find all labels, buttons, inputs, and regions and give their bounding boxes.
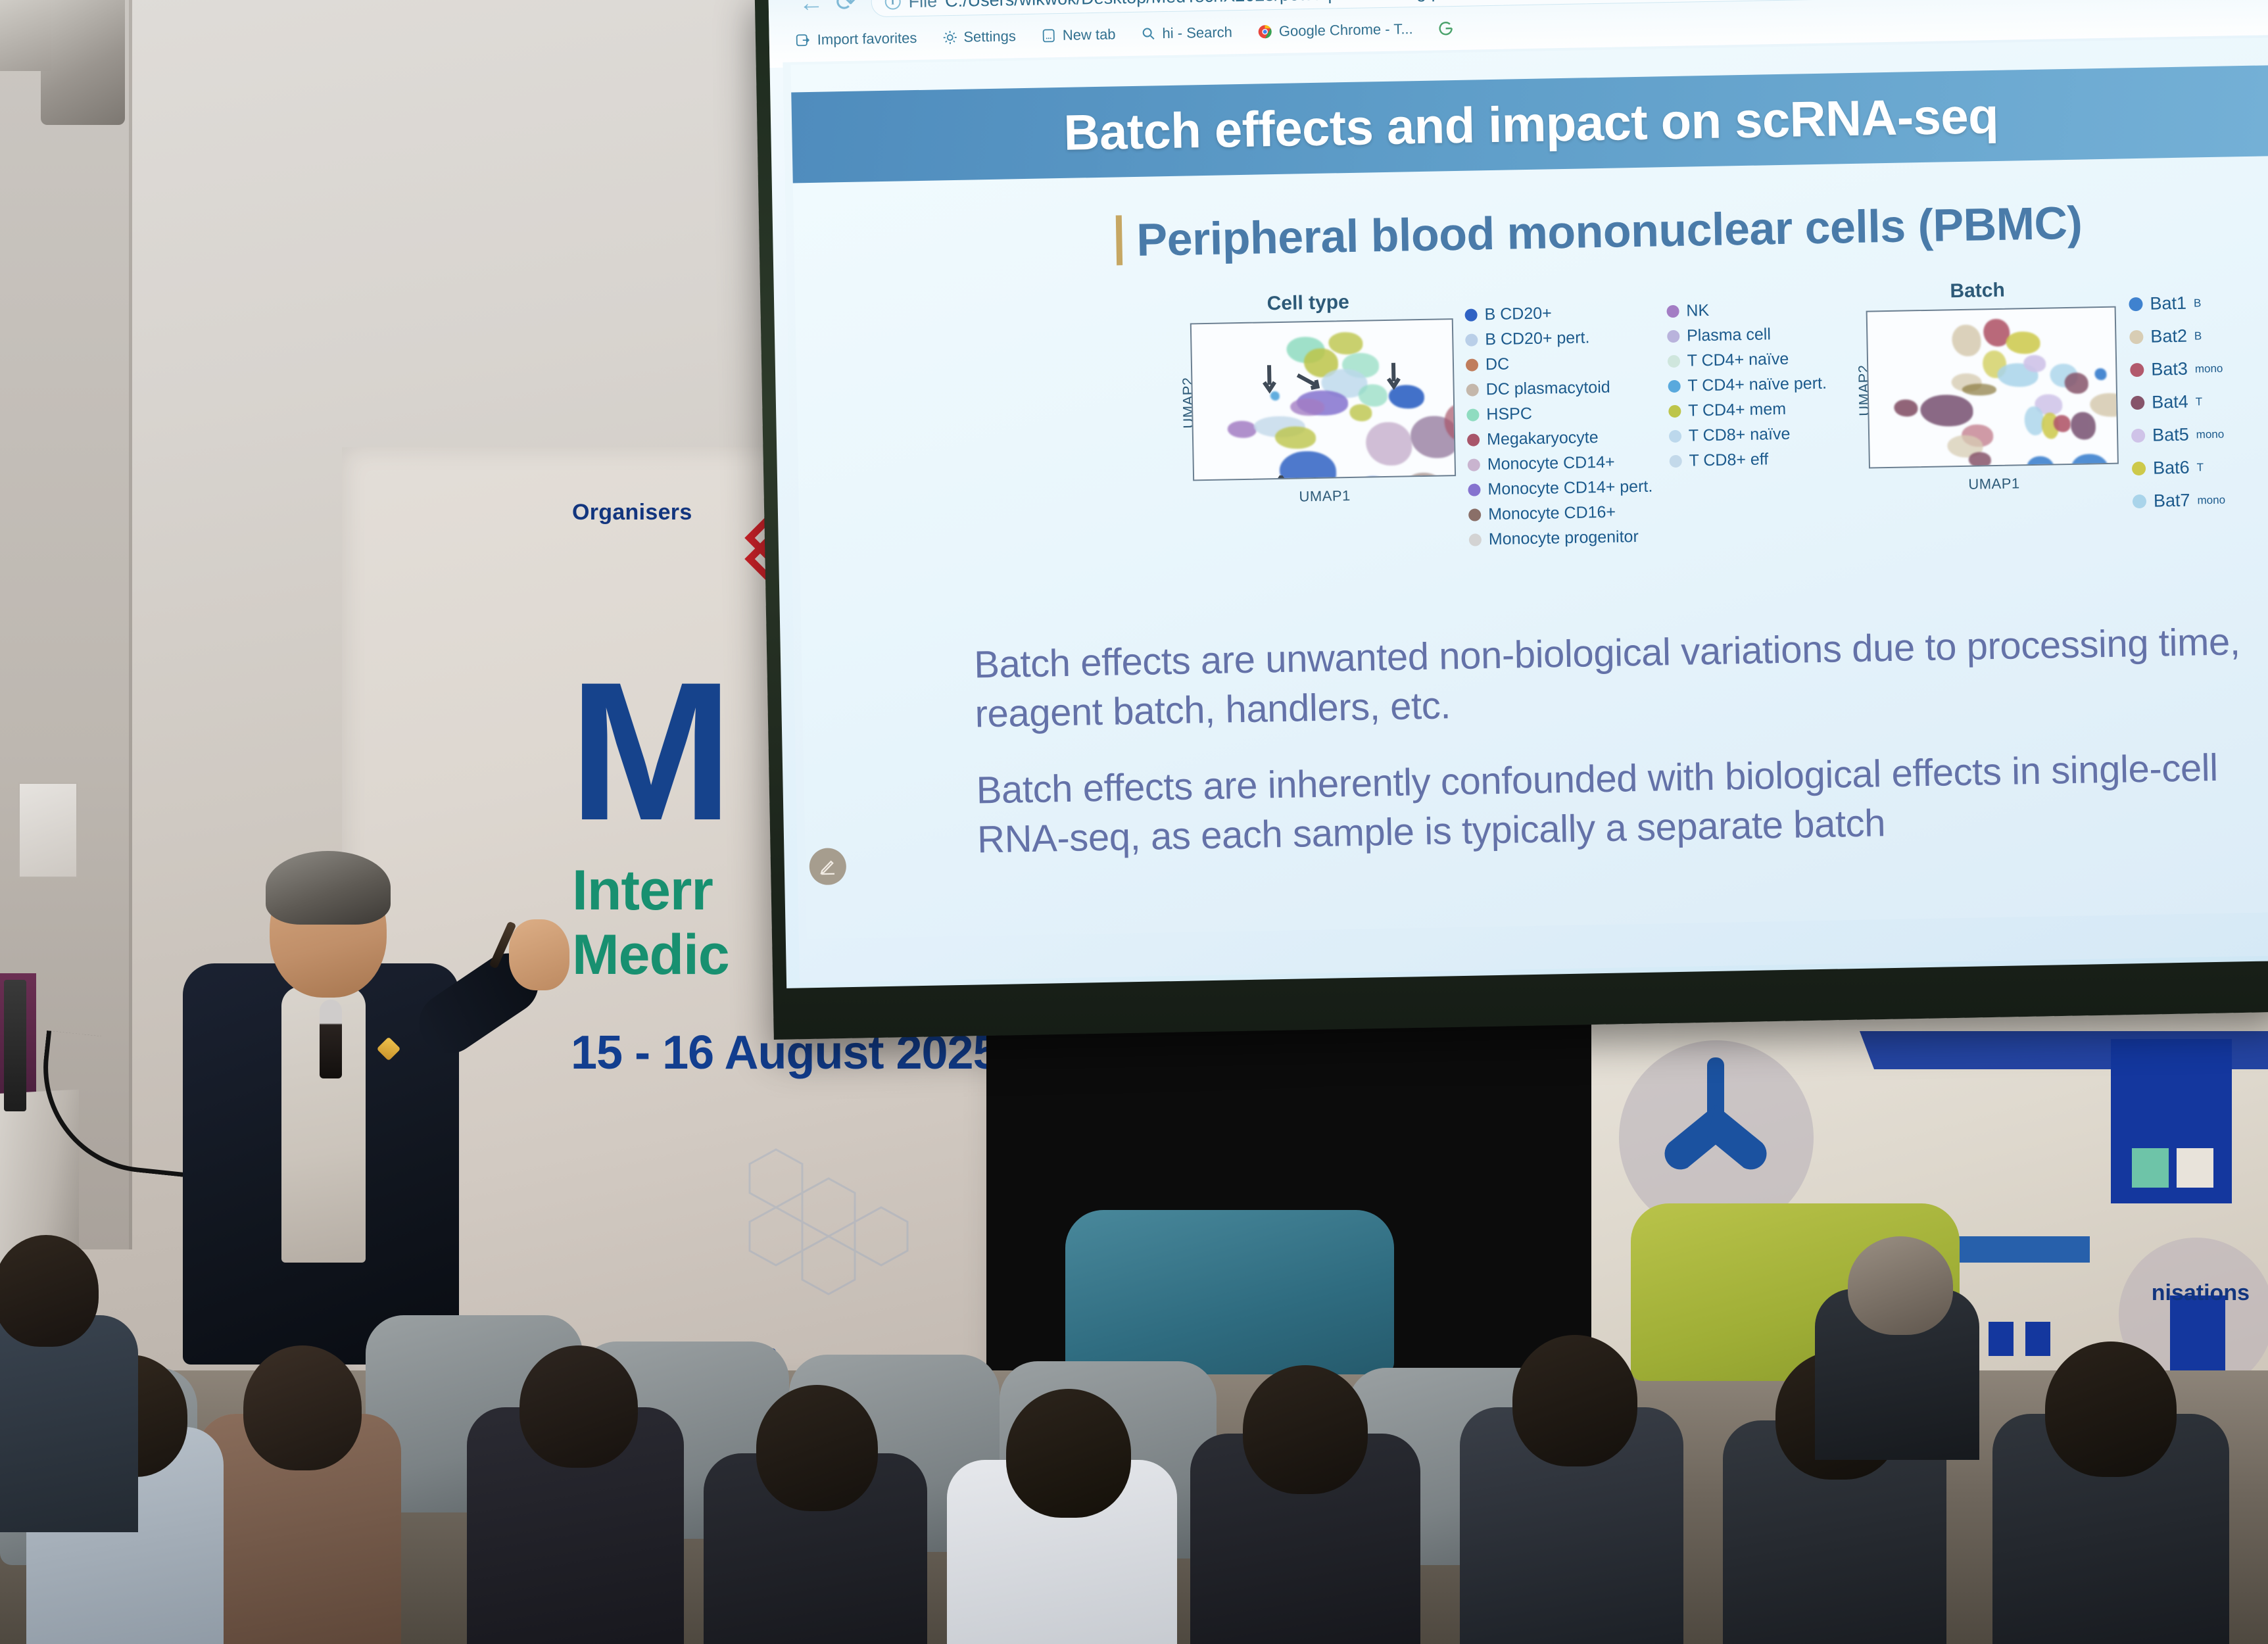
slide-title: Batch effects and impact on scRNA-seq [1063, 87, 1999, 161]
ceiling-fixture [41, 0, 125, 125]
slide-paragraph-1: Batch effects are unwanted non-biologica… [974, 616, 2268, 739]
legend-item[interactable]: DC plasmacytoid [1466, 374, 1651, 402]
legend-label: HSPC [1486, 405, 1532, 422]
legend-item[interactable]: Megakaryocyte [1467, 424, 1652, 452]
legend-swatch [1667, 329, 1679, 342]
bookmark-hi-search[interactable]: hi - Search [1140, 24, 1232, 43]
legend-item[interactable]: B CD20+ [1464, 299, 1649, 327]
legend-swatch [2129, 297, 2142, 310]
mic-stand [4, 980, 26, 1111]
legend-item[interactable]: NK [1666, 296, 1825, 324]
legend-label: DC plasmacytoid [1485, 379, 1610, 397]
poster-title-line-1: Interr [572, 860, 713, 921]
audience-head [756, 1385, 878, 1511]
audience-member [0, 1315, 138, 1532]
legend-label: Plasma cell [1687, 326, 1771, 344]
legend-swatch [2133, 494, 2146, 508]
legend-swatch [1666, 304, 1679, 317]
legend-swatch [1466, 358, 1478, 371]
legend-label-subscript: B [2194, 330, 2202, 341]
legend-label: Bat1 [2150, 294, 2186, 312]
legend-label: Bat3 [2151, 360, 2188, 378]
legend-label: Bat7 [2154, 491, 2190, 510]
legend-label: NK [1686, 302, 1709, 319]
legend-swatch [1668, 354, 1680, 367]
legend-column-1: Bat1B Bat2B Bat3mono Bat4T Bat5mono Bat6… [2129, 286, 2225, 518]
presenter-hand [509, 919, 569, 990]
legend-item[interactable]: T CD4+ naïve pert. [1668, 371, 1827, 399]
legend-batch: Bat1B Bat2B Bat3mono Bat4T Bat5mono Bat6… [2129, 286, 2225, 518]
back-arrow-icon[interactable]: ← [798, 0, 824, 16]
legend-item[interactable]: B CD20+ pert. [1465, 324, 1650, 352]
bookmark-import-favorites[interactable]: Import favorites [796, 30, 917, 49]
annotation-arrow-1 [1261, 364, 1278, 395]
audience-head [1512, 1335, 1637, 1466]
audience-head [243, 1345, 362, 1470]
legend-swatch [1468, 458, 1480, 471]
legend-swatch [1464, 308, 1477, 321]
handheld-microphone [320, 1000, 342, 1078]
legend-swatch [2129, 329, 2143, 343]
conference-photo-scene: Organisers M Interr Medic 15 - 16 August… [0, 0, 2268, 1644]
legend-label: B CD20+ [1484, 305, 1552, 323]
audience-head [0, 1235, 99, 1347]
wall-vent [18, 783, 78, 878]
legend-label-subscript: mono [2195, 362, 2223, 374]
bookmark-new-tab[interactable]: New tab [1041, 26, 1116, 44]
audience-area [0, 1217, 2268, 1644]
ceiling-fixture-secondary [0, 0, 51, 71]
legend-item[interactable]: Bat7mono [2133, 483, 2226, 518]
legend-cell-type: B CD20+ B CD20+ pert. DC DC plasmacytoid… [1464, 296, 1829, 552]
slide-section-heading: Peripheral blood mononuclear cells (PBMC… [1116, 197, 2083, 267]
pencil-edit-icon [818, 856, 838, 877]
legend-item[interactable]: Monocyte progenitor [1469, 524, 1654, 552]
legend-label: Monocyte progenitor [1489, 528, 1639, 547]
x-axis-label: UMAP1 [1869, 473, 2119, 495]
slide-body-text: Batch effects are unwanted non-biologica… [974, 616, 2268, 891]
legend-label: Bat2 [2150, 327, 2187, 345]
chrome-icon [1257, 24, 1273, 39]
chart-plot-area [1190, 318, 1456, 481]
chart-plot-area [1866, 306, 2119, 469]
legend-swatch [1466, 408, 1479, 421]
search-icon [1140, 26, 1156, 41]
chart-title: Batch [1839, 278, 2116, 305]
legend-label: Monocyte CD16+ [1488, 504, 1616, 523]
legend-swatch [1466, 383, 1479, 396]
legend-label-subscript: T [2196, 396, 2203, 407]
google-g-icon [1437, 20, 1453, 36]
legend-swatch [1468, 508, 1481, 521]
pdf-viewer[interactable]: Batch effects and impact on scRNA-seq Pe… [783, 35, 2268, 982]
slide-title-bar: Batch effects and impact on scRNA-seq [791, 65, 2268, 183]
poster-big-letter: M [569, 664, 729, 838]
legend-label: T CD4+ naïve pert. [1687, 375, 1827, 394]
audience-head [1006, 1389, 1131, 1518]
import-favorites-icon [796, 32, 811, 48]
audience-head [1243, 1365, 1368, 1494]
legend-swatch [1668, 404, 1681, 417]
annotation-arrow-3 [1386, 362, 1402, 392]
bookmark-label: Google Chrome - T... [1279, 20, 1413, 40]
legend-swatch [1669, 429, 1681, 442]
reload-icon[interactable]: ⟳ [835, 0, 857, 15]
legend-item[interactable]: Plasma cell [1667, 321, 1826, 349]
legend-item[interactable]: Monocyte CD16+ [1468, 499, 1653, 527]
bookmark-label: New tab [1063, 26, 1116, 43]
url-text: C:/Users/wikwok/Desktop/MedTechX2025/pow… [945, 0, 1456, 11]
x-axis-label: UMAP1 [1193, 485, 1456, 507]
legend-label-subscript: mono [2197, 494, 2225, 506]
annotation-arrow-2 [1296, 371, 1326, 393]
legend-label: Bat5 [2152, 425, 2189, 444]
legend-label: T CD8+ naïve [1689, 425, 1791, 444]
legend-item[interactable]: Monocyte CD14+ [1467, 449, 1652, 477]
legend-item[interactable]: Bat2B [2129, 319, 2223, 354]
gear-icon [942, 30, 957, 45]
legend-label: B CD20+ pert. [1485, 329, 1590, 348]
bookmark-label: Settings [963, 28, 1016, 45]
auditorium-chair [1065, 1210, 1394, 1374]
legend-item[interactable]: Bat1B [2129, 286, 2222, 321]
poster-title-line-2: Medic [572, 925, 729, 986]
legend-label-subscript: T [2196, 462, 2204, 473]
url-scheme-label: File [908, 0, 937, 12]
legend-label: T CD4+ naïve [1687, 351, 1789, 369]
legend-swatch [2130, 362, 2144, 376]
projection-screen: ← ⟳ i File C:/Users/wikwok/Desktop/MedTe… [768, 0, 2268, 988]
bookmark-label: Import favorites [817, 30, 917, 49]
legend-swatch [2131, 395, 2144, 409]
new-tab-icon [1041, 28, 1057, 43]
legend-item[interactable]: Bat5mono [2131, 418, 2225, 452]
presentation-slide: Batch effects and impact on scRNA-seq Pe… [790, 37, 2268, 939]
legend-label: Bat4 [2152, 393, 2188, 411]
legend-item[interactable]: T CD8+ naïve [1669, 421, 1828, 448]
umap-panel-batch: Batch UMAP2 UMAP1 [1839, 278, 2119, 500]
legend-label: T CD8+ eff [1689, 451, 1768, 469]
legend-swatch [1469, 533, 1482, 546]
legend-item[interactable]: Bat3mono [2130, 352, 2223, 387]
legend-item[interactable]: Bat4T [2131, 385, 2224, 420]
audience-head [519, 1345, 638, 1468]
legend-item[interactable]: T CD4+ mem [1668, 396, 1827, 423]
section-accent-bar [1116, 215, 1122, 265]
legend-label-subscript: mono [2196, 428, 2225, 440]
legend-swatch [2132, 461, 2146, 475]
section-heading-text: Peripheral blood mononuclear cells (PBMC… [1136, 197, 2083, 266]
legend-label: Megakaryocyte [1487, 429, 1599, 448]
slide-paragraph-2: Batch effects are inherently confounded … [976, 742, 2268, 865]
legend-swatch [1465, 333, 1478, 346]
legend-swatch [2131, 428, 2145, 442]
info-circle-icon[interactable]: i [884, 0, 900, 10]
umap-panel-cell-type: Cell type UMAP2 UMAP1 [1163, 289, 1457, 512]
legend-item[interactable]: T CD4+ naïve [1667, 346, 1826, 374]
presenter-hair [266, 851, 391, 925]
bookmark-settings[interactable]: Settings [942, 28, 1016, 46]
legend-swatch [1468, 483, 1480, 496]
bookmark-label: hi - Search [1162, 24, 1232, 42]
legend-label: Bat6 [2153, 458, 2190, 477]
bookmark-google-g[interactable] [1437, 20, 1459, 37]
legend-column-1: B CD20+ B CD20+ pert. DC DC plasmacytoid… [1464, 299, 1654, 552]
legend-label: T CD4+ mem [1688, 400, 1786, 419]
legend-label: Monocyte CD14+ pert. [1487, 478, 1653, 498]
audience-head [2045, 1342, 2177, 1477]
legend-item[interactable]: Monocyte CD14+ pert. [1468, 474, 1653, 502]
legend-label: DC [1485, 356, 1510, 373]
legend-item[interactable]: Bat6T [2132, 450, 2225, 485]
audience-head [1848, 1236, 1953, 1335]
legend-swatch [1668, 379, 1680, 392]
bookmark-google-chrome[interactable]: Google Chrome - T... [1257, 20, 1413, 40]
annotation-arrow-4 [1273, 475, 1290, 481]
legend-label-subscript: B [2194, 297, 2202, 308]
legend-item[interactable]: T CD8+ eff [1669, 446, 1828, 473]
legend-label: Monocyte CD14+ [1487, 454, 1615, 473]
legend-column-2: NK Plasma cell T CD4+ naïve T CD4+ naïve… [1666, 296, 1829, 548]
poster-organisers-label: Organisers [572, 500, 692, 525]
legend-swatch [1669, 454, 1681, 467]
legend-swatch [1467, 433, 1480, 446]
legend-item[interactable]: HSPC [1466, 399, 1651, 427]
legend-item[interactable]: DC [1466, 349, 1651, 377]
chart-title: Cell type [1163, 289, 1453, 317]
